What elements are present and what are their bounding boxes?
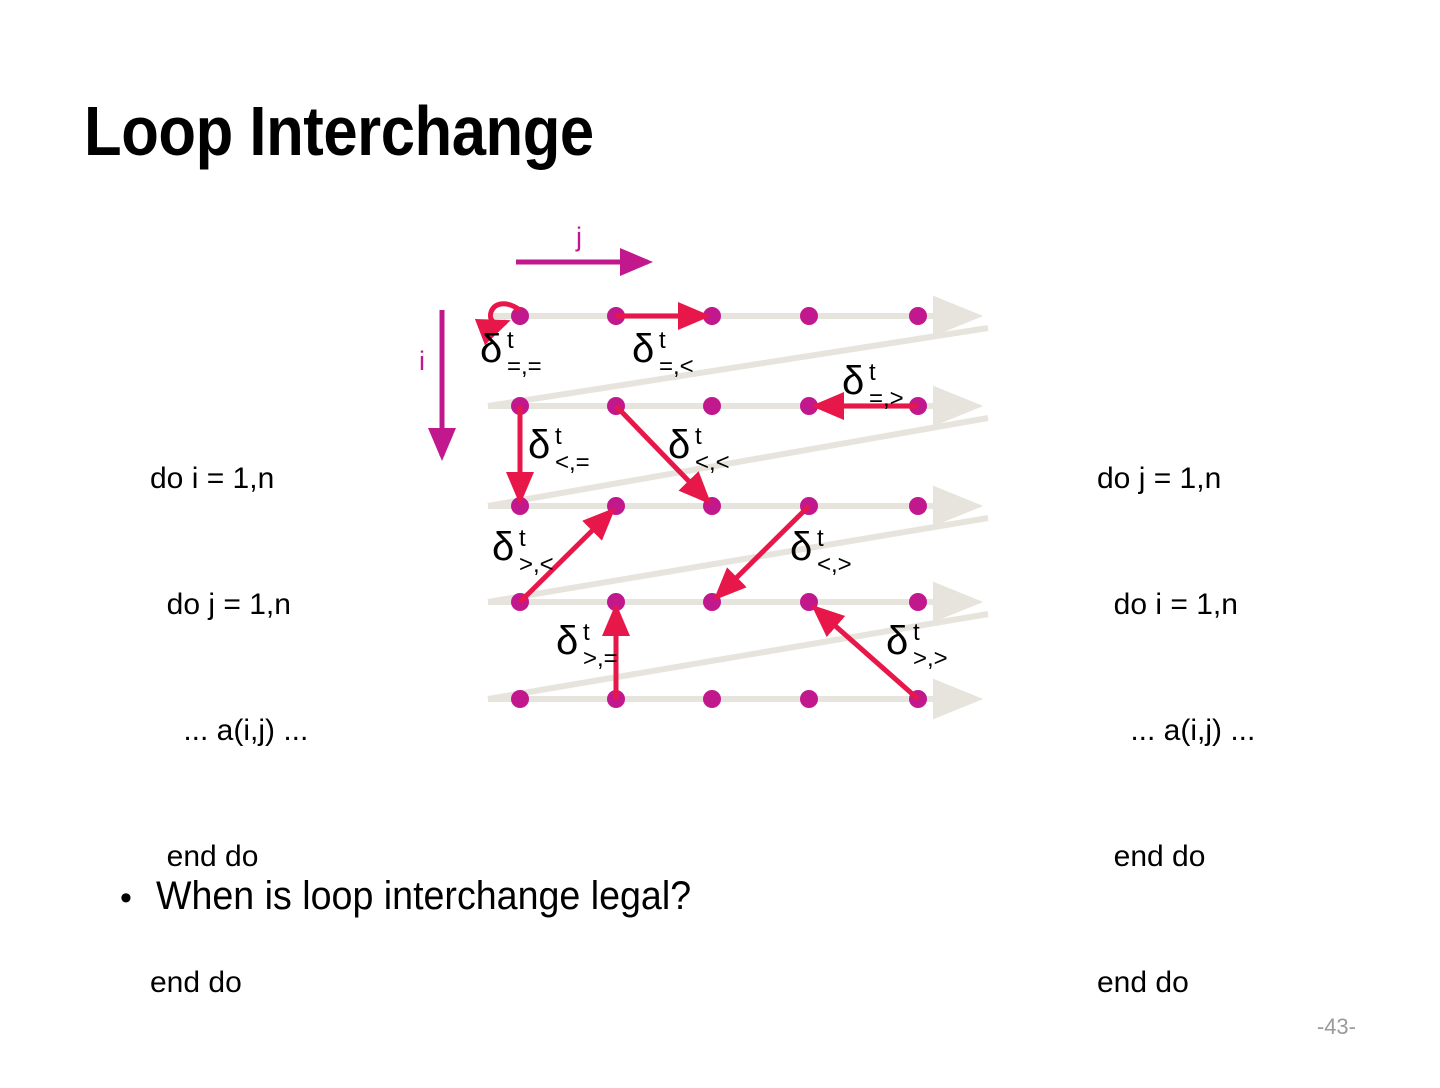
page-title: Loop Interchange <box>84 96 594 166</box>
delta-subscript: =,> <box>869 385 904 412</box>
delta-subscript: <,< <box>695 449 730 476</box>
dependence-label-eq-eq: δ t =,= <box>480 327 542 380</box>
delta-superscript: t <box>519 525 526 552</box>
iteration-point <box>909 307 927 325</box>
slide-canvas: Loop Interchange do i = 1,n do j = 1,n .… <box>0 0 1440 1080</box>
dependence-label-lt-eq: δ t <,= <box>528 423 590 476</box>
delta-subscript: =,< <box>659 353 694 380</box>
delta-subscript: >,< <box>519 551 554 578</box>
code-line: end do <box>150 836 308 878</box>
code-line: end do <box>1097 836 1255 878</box>
delta-superscript: t <box>555 423 562 450</box>
delta-symbol: δ <box>492 525 514 569</box>
page-number: -43- <box>1317 1014 1356 1040</box>
delta-subscript: <,= <box>555 449 590 476</box>
bullet-item: • When is loop interchange legal? <box>120 876 725 916</box>
delta-subscript: =,= <box>507 353 542 380</box>
delta-symbol: δ <box>480 327 502 371</box>
code-line: do i = 1,n <box>150 458 308 500</box>
delta-symbol: δ <box>556 619 578 663</box>
iteration-point <box>800 307 818 325</box>
iteration-space-dependence-diagram: j i <box>380 210 1020 730</box>
iteration-point <box>703 397 721 415</box>
original-loop-nest-code: do i = 1,n do j = 1,n ... a(i,j) ... end… <box>150 374 308 1088</box>
delta-superscript: t <box>869 359 876 386</box>
code-line: do i = 1,n <box>1097 584 1255 626</box>
interchanged-loop-nest-code: do j = 1,n do i = 1,n ... a(i,j) ... end… <box>1097 374 1255 1088</box>
delta-symbol: δ <box>528 423 550 467</box>
delta-superscript: t <box>817 525 824 552</box>
iteration-point <box>909 593 927 611</box>
delta-superscript: t <box>695 423 702 450</box>
axis-i: i <box>419 310 442 456</box>
bullet-text: When is loop interchange legal? <box>156 876 691 916</box>
axis-j: j <box>516 222 648 262</box>
code-line: do j = 1,n <box>150 584 308 626</box>
delta-subscript: <,> <box>817 551 852 578</box>
axis-i-label: i <box>419 346 425 376</box>
delta-subscript: >,> <box>913 645 948 672</box>
delta-superscript: t <box>913 619 920 646</box>
iteration-point <box>703 690 721 708</box>
traversal-return-diagonal <box>488 328 988 406</box>
iteration-point <box>800 397 818 415</box>
dependence-label-gt-eq: δ t >,= <box>556 619 618 672</box>
delta-symbol: δ <box>790 525 812 569</box>
code-line: end do <box>1097 962 1255 1004</box>
dependence-label-gt-lt: δ t >,< <box>492 525 554 578</box>
dependence-label-gt-gt: δ t >,> <box>886 619 948 672</box>
code-line: do j = 1,n <box>1097 458 1255 500</box>
iteration-point <box>511 690 529 708</box>
delta-symbol: δ <box>886 619 908 663</box>
iteration-point <box>909 497 927 515</box>
delta-superscript: t <box>583 619 590 646</box>
delta-subscript: >,= <box>583 645 618 672</box>
delta-symbol: δ <box>632 327 654 371</box>
iteration-point <box>800 690 818 708</box>
delta-symbol: δ <box>668 423 690 467</box>
code-line: ... a(i,j) ... <box>150 710 308 752</box>
bullet-marker-icon: • <box>120 881 132 915</box>
dependence-label-eq-lt: δ t =,< <box>632 327 694 380</box>
code-line: end do <box>150 962 308 1004</box>
delta-superscript: t <box>659 327 666 354</box>
code-line: ... a(i,j) ... <box>1097 710 1255 752</box>
delta-symbol: δ <box>842 359 864 403</box>
delta-superscript: t <box>507 327 514 354</box>
dependence-label-lt-gt: δ t <,> <box>790 525 852 578</box>
axis-j-label: j <box>575 222 582 252</box>
